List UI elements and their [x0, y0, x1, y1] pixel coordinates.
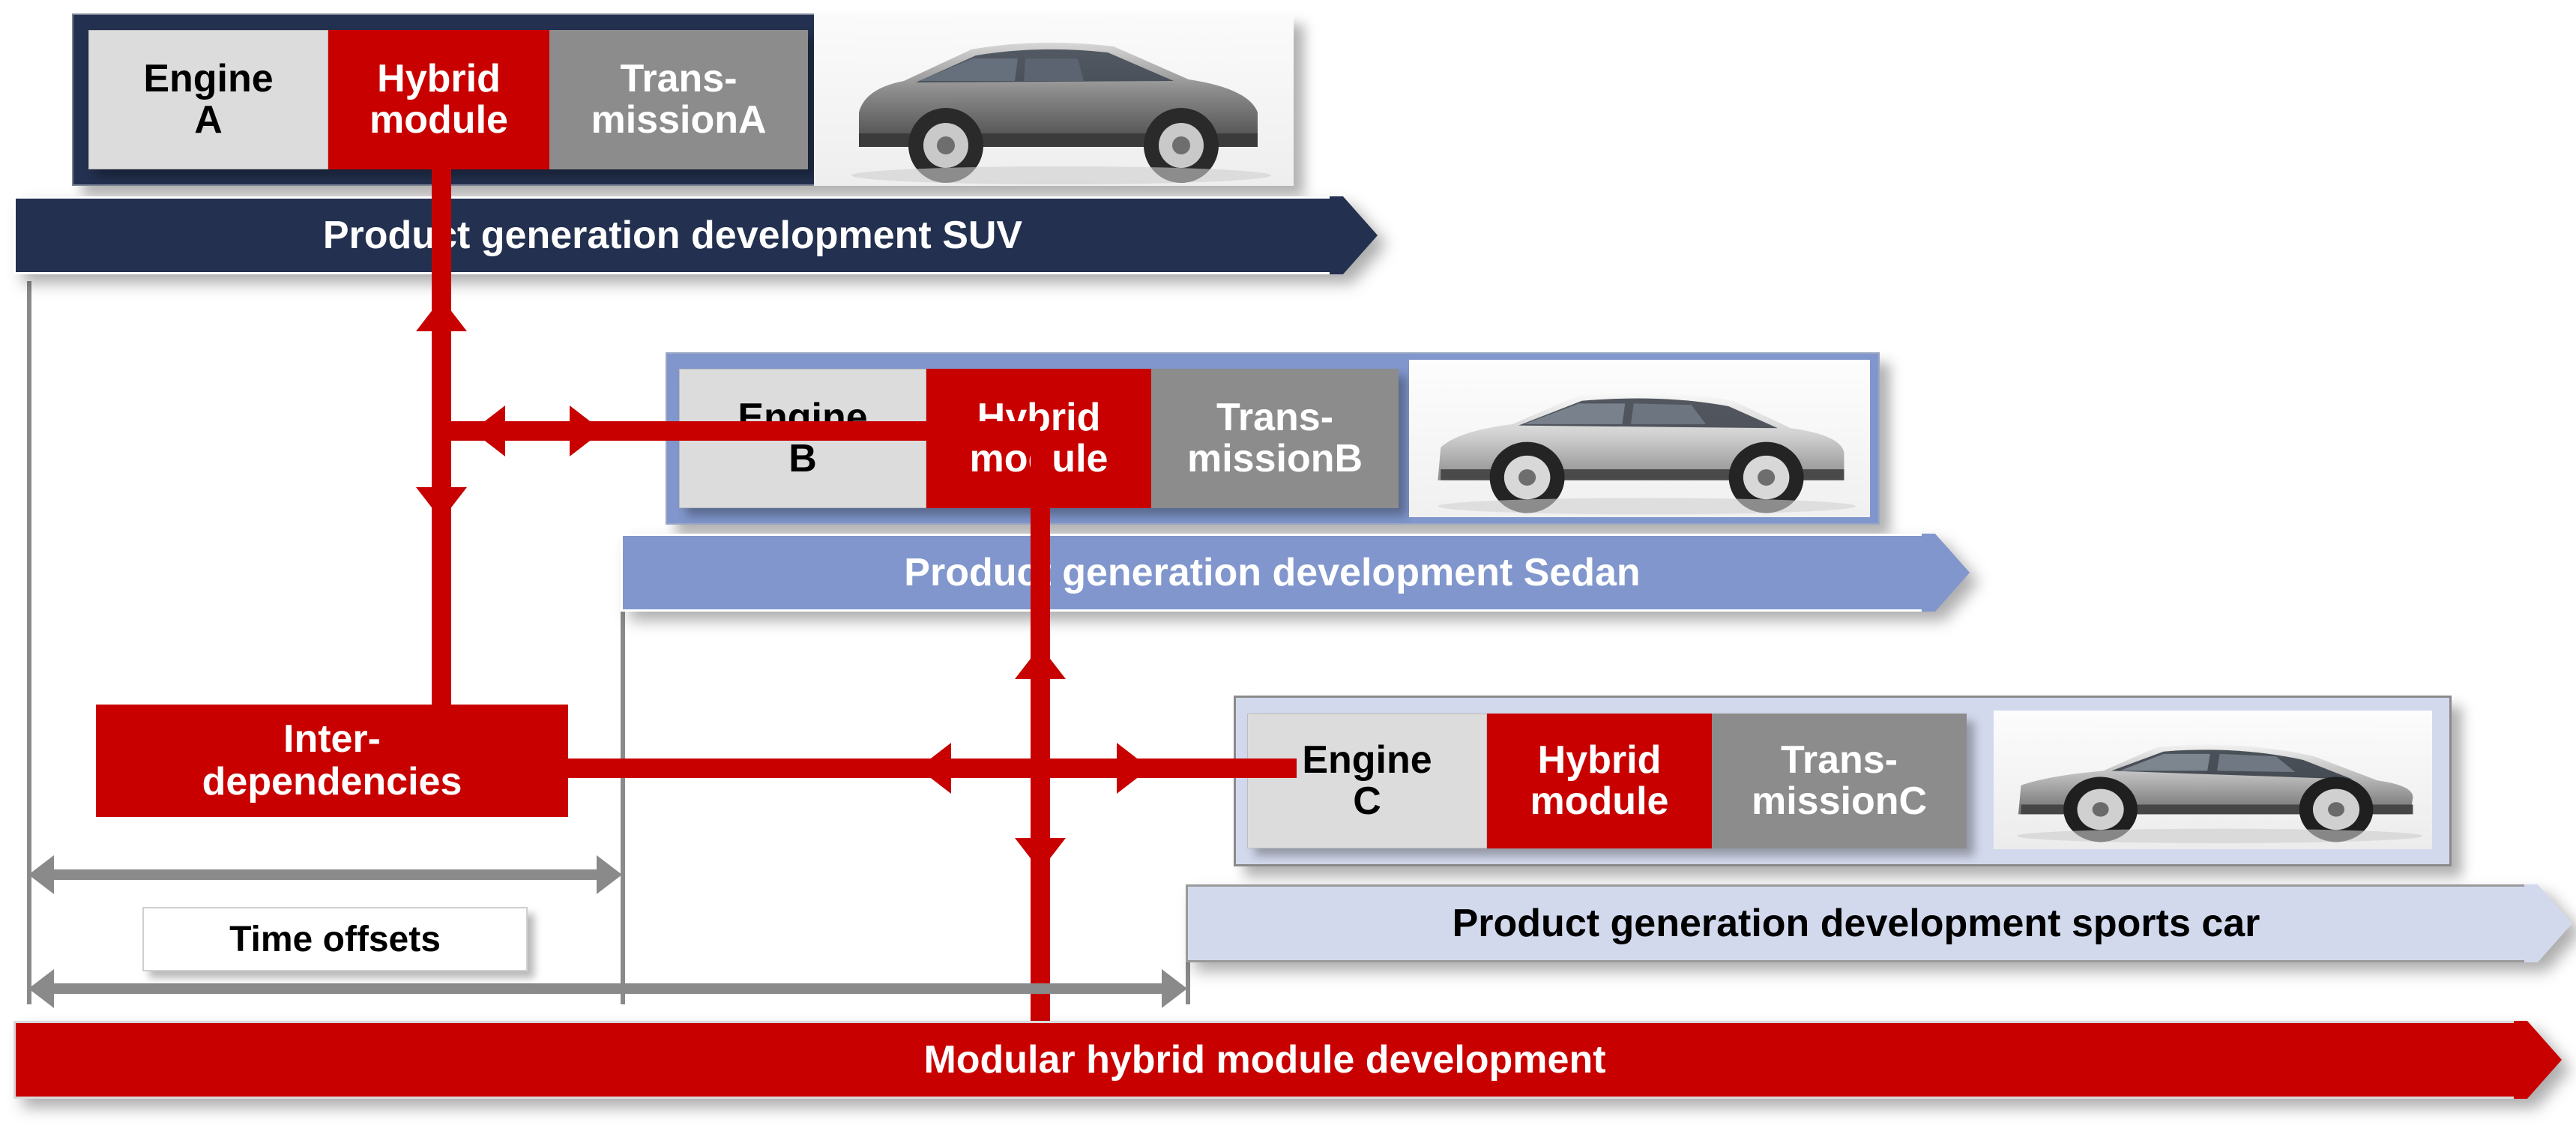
module-strip-sports: Engine C Hybrid module Trans- missionC: [1247, 714, 1967, 848]
sedan-photo: [1409, 360, 1870, 517]
hybrid-label-line1: Hybrid: [1538, 740, 1662, 781]
bar-tip-sedan: [1922, 534, 1970, 612]
transmission-cell-suv[interactable]: Trans- missionA: [549, 30, 808, 169]
arrow-right-icon: [570, 405, 603, 456]
transmission-label-line1: Trans-: [620, 58, 737, 100]
product-generation-bar-sedan[interactable]: Product generation development Sedan: [621, 534, 1970, 612]
arrow-up-icon: [1015, 646, 1066, 679]
transmission-label-line2: missionC: [1752, 781, 1927, 822]
bar-label-sports: Product generation development sports ca…: [1188, 901, 2524, 946]
transmission-cell-sports[interactable]: Trans- missionC: [1712, 714, 1967, 848]
hybrid-label-line2: module: [1530, 781, 1669, 822]
engine-label-line2: C: [1353, 781, 1381, 822]
transmission-label-line1: Trans-: [1216, 397, 1333, 438]
bar-body-sports: Product generation development sports ca…: [1186, 884, 2524, 962]
arrow-up-icon: [416, 298, 467, 331]
engine-label-line1: Engine: [1302, 740, 1432, 781]
hybrid-label-line2: module: [369, 100, 508, 141]
engine-cell-suv[interactable]: Engine A: [88, 30, 328, 169]
engine-label-line2: B: [788, 438, 817, 480]
hybrid-module-cell-suv[interactable]: Hybrid module: [328, 30, 549, 169]
transmission-label-line2: missionB: [1187, 438, 1363, 480]
bar-label-sedan: Product generation development Sedan: [623, 550, 1922, 595]
connector-vertical-sedan: [1031, 431, 1050, 1023]
bar-label-suv: Product generation development SUV: [16, 213, 1330, 258]
bar-tip-suv: [1330, 196, 1378, 274]
product-generation-bar-sports[interactable]: Product generation development sports ca…: [1186, 884, 2572, 962]
bar-label-modular: Modular hybrid module development: [16, 1037, 2514, 1082]
diagram-canvas: Engine A Hybrid module Trans- missionA: [0, 0, 2576, 1146]
timeline-reference-line-sedan: [621, 611, 625, 1004]
arrow-left-icon: [28, 855, 54, 894]
time-offset-bar-upper: [54, 869, 597, 880]
interdependencies-box[interactable]: Inter- dependencies: [96, 705, 568, 817]
arrow-down-icon: [1015, 838, 1066, 871]
transmission-label-line2: missionA: [591, 100, 766, 141]
time-offsets-text: Time offsets: [229, 919, 441, 960]
suv-photo: [814, 13, 1294, 186]
bar-tip-sports: [2524, 884, 2572, 962]
transmission-label-line1: Trans-: [1781, 740, 1898, 781]
module-strip-suv: Engine A Hybrid module Trans- missionA: [88, 30, 808, 169]
arrow-right-icon: [1162, 969, 1187, 1008]
hybrid-label-line1: Hybrid: [377, 58, 501, 100]
bar-tip-modular: [2514, 1021, 2562, 1099]
arrow-left-icon: [918, 743, 951, 794]
time-offsets-label: Time offsets: [142, 907, 528, 971]
transmission-cell-sedan[interactable]: Trans- missionB: [1151, 369, 1399, 508]
timeline-reference-line-suv: [27, 281, 31, 1004]
connector-horizontal-sedan: [432, 421, 1040, 441]
sportscar-photo: [1994, 711, 2432, 849]
interdependencies-label-line2: dependencies: [202, 761, 462, 803]
time-offset-bar-lower: [54, 983, 1162, 994]
arrow-left-icon: [472, 405, 505, 456]
bar-body-sedan: Product generation development Sedan: [621, 534, 1922, 612]
arrow-left-icon: [28, 969, 54, 1008]
hybrid-module-cell-sports[interactable]: Hybrid module: [1487, 714, 1712, 848]
bar-body-modular: Modular hybrid module development: [13, 1021, 2514, 1099]
interdependencies-label-line1: Inter-: [283, 718, 381, 761]
engine-label-line1: Engine: [143, 58, 273, 100]
engine-cell-sports[interactable]: Engine C: [1247, 714, 1487, 848]
product-generation-bar-suv[interactable]: Product generation development SUV: [13, 196, 1378, 274]
connector-horizontal-sports: [525, 759, 1297, 778]
arrow-right-icon: [1117, 743, 1150, 794]
arrow-right-icon: [597, 855, 622, 894]
engine-label-line2: A: [194, 100, 223, 141]
arrow-down-icon: [416, 487, 467, 520]
modular-hybrid-development-bar[interactable]: Modular hybrid module development: [13, 1021, 2562, 1099]
bar-body-suv: Product generation development SUV: [13, 196, 1330, 274]
